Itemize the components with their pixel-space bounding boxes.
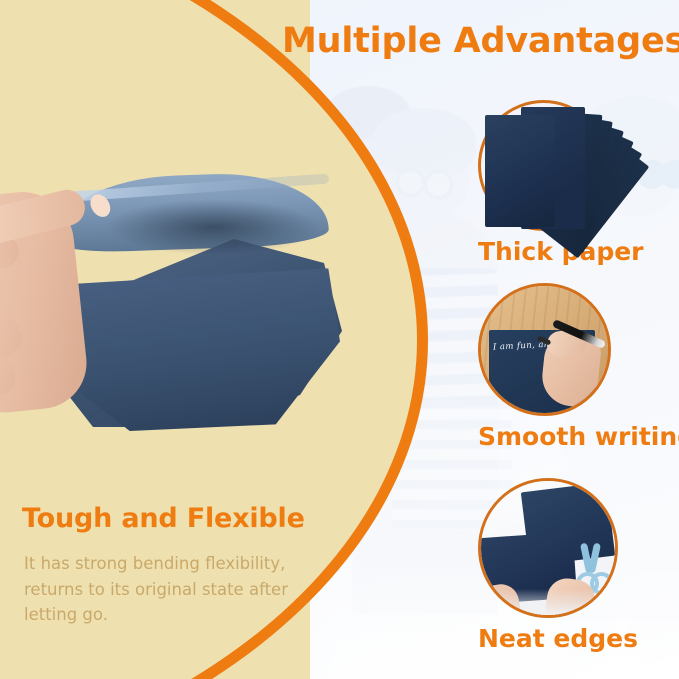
feature-thick-paper[interactable]: Thick paper (478, 100, 644, 266)
hero-bending-cardstock (0, 175, 344, 475)
cardstock-edge-highlight (67, 174, 329, 202)
feature-image-circle: I am fun, and (478, 283, 611, 416)
feature-image-circle (478, 478, 618, 618)
ghost-sunglasses-icon (396, 168, 425, 197)
cardstock-inner-shadow (106, 199, 320, 255)
feature-label-smooth-writing: Smooth writing (478, 422, 679, 451)
finger (0, 351, 18, 400)
left-panel-body: It has strong bending flexibility, retur… (24, 551, 342, 628)
feature-neat-edges[interactable]: Neat edges (478, 478, 638, 653)
product-feature-poster: Multiple Advantages Tough and Flexible I… (0, 0, 679, 679)
paper-sheet-front (485, 115, 555, 227)
feature-image-circle (478, 100, 609, 231)
page-title: Multiple Advantages (282, 22, 674, 61)
feature-smooth-writing[interactable]: I am fun, and Smooth writing (478, 283, 679, 451)
ghost-hair (372, 108, 476, 174)
feature-label-neat-edges: Neat edges (478, 624, 638, 653)
ghost-sunglasses-icon (424, 170, 453, 199)
bent-cardstock (42, 175, 330, 427)
floor-fade (481, 589, 618, 615)
finger (0, 315, 22, 357)
left-panel-title: Tough and Flexible (22, 503, 305, 534)
scissor-blade (588, 543, 601, 574)
